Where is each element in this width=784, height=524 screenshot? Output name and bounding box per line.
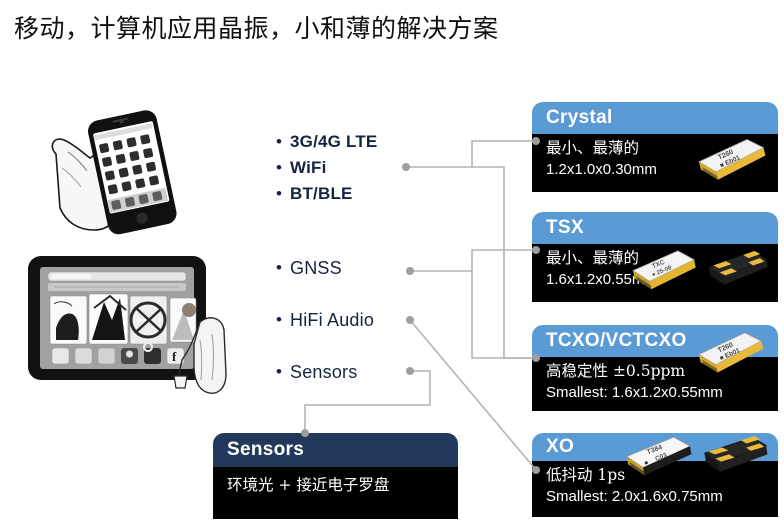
bullet-label-bt-ble: BT/BLE [290,183,353,204]
tablet-shape: f [28,256,206,380]
connector-dot-sensors [406,367,414,375]
bullet-label-sensors: Sensors [290,361,357,383]
smd-crystal-gold-top-chip-icon: T260 ■ Eb01 [690,331,770,386]
smd-package-4pad-gold-chip-icon [704,250,774,299]
list-item: • Sensors [276,361,374,413]
bullet-marker: • [276,361,290,383]
bullet-list-features: • GNSS • HiFi Audio • Sensors [276,257,374,413]
card-tsx[interactable]: TSX 最小、最薄的 1.6x1.2x0.55mm TXC ● 25-08 [532,212,778,302]
card-line: Smallest: 2.0x1.6x0.75mm [546,486,778,507]
bullet-marker: • [276,159,290,176]
connector-dot-connectivity [402,163,410,171]
bullet-marker: • [276,309,290,331]
card-tcxo[interactable]: TCXO/VCTCXO 高稳定性 ±0.5ppm Smallest: 1.6x1… [532,325,778,411]
connector-connectivity-to-tcxo [472,167,536,358]
connector-dot-gnss [406,267,414,275]
connector-dot-hifi-audio [406,316,414,324]
list-item: • BT/BLE [276,183,377,204]
bullet-label-3g4g-lte: 3G/4G LTE [290,131,377,152]
card-header-sensors: Sensors [213,433,458,467]
connector-gnss-to-tsx [410,250,536,271]
smd-crystal-white-top-chip-icon: T384 C03 [622,436,700,489]
list-item: • HiFi Audio [276,309,374,361]
card-body-crystal: 最小、最薄的 1.2x1.0x0.30mm T260 ■ Eb01 [532,134,778,192]
list-item: • GNSS [276,257,374,309]
card-line: 环境光 + 接近电子罗盘 [227,475,458,496]
card-sensors[interactable]: Sensors 环境光 + 接近电子罗盘 [213,433,458,519]
bullet-marker: • [276,257,290,279]
list-item: • WiFi [276,157,377,178]
smd-crystal-white-top-chip-icon: TXC ● 25-08 [628,250,702,299]
connector-connectivity-to-crystal [406,141,536,167]
bullet-list-connectivity: • 3G/4G LTE • WiFi • BT/BLE [276,131,377,209]
bullet-marker: • [276,185,290,202]
card-header-crystal: Crystal [532,102,778,134]
page-title: 移动，计算机应用晶振，小和薄的解决方案 [14,12,499,46]
smd-crystal-gold-top-chip-icon: T260 ■ Eb01 [690,138,772,191]
hand-holding-smartphone-image [38,96,188,236]
card-body-tsx: 最小、最薄的 1.6x1.2x0.55mm TXC ● 25-08 [532,244,778,302]
card-header-tsx: TSX [532,212,778,244]
card-xo[interactable]: XO 低抖动 1ps Smallest: 2.0x1.6x0.75mm T384… [532,433,778,517]
bullet-marker: • [276,133,290,150]
bullet-label-wifi: WiFi [290,157,327,178]
bullet-label-hifi-audio: HiFi Audio [290,309,374,331]
list-item: • 3G/4G LTE [276,131,377,152]
card-crystal[interactable]: Crystal 最小、最薄的 1.2x1.0x0.30mm T260 ■ Eb0… [532,102,778,192]
connector-gnss-to-tcxo [472,271,536,358]
svg-text:f: f [172,349,177,364]
bullet-label-gnss: GNSS [290,257,342,279]
hand-using-tablet-image: f [24,248,229,400]
smd-package-4pad-gold-chip-icon [700,436,776,489]
card-body-sensors: 环境光 + 接近电子罗盘 [213,467,458,519]
